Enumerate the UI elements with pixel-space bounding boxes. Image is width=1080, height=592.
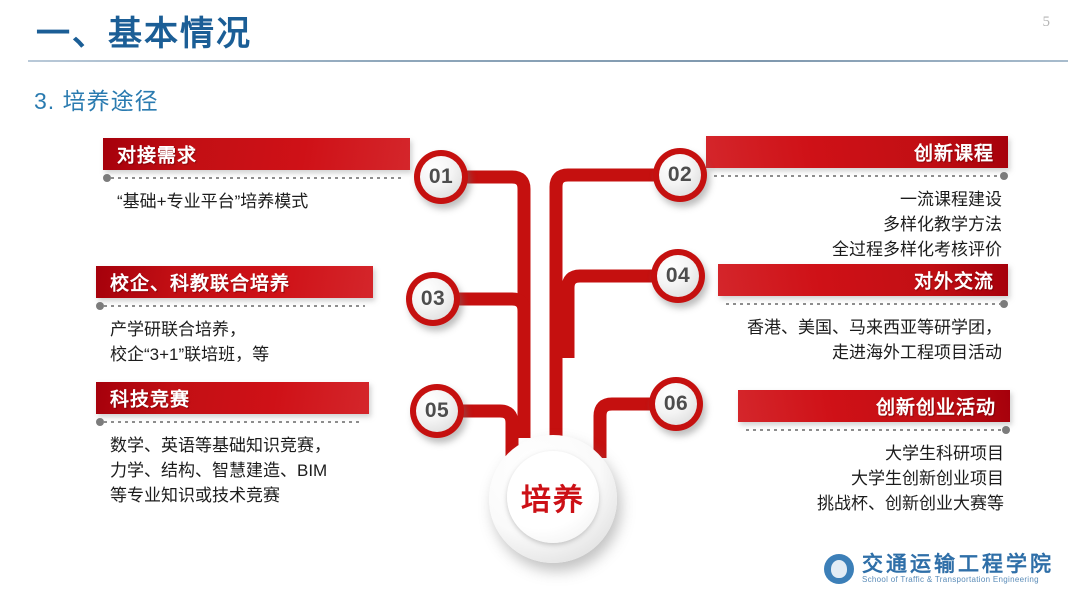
marker-number-03: 03 <box>421 287 445 311</box>
pathway-marker-02[interactable]: 02 <box>653 148 707 202</box>
hub-label: 培养 <box>521 475 585 519</box>
marker-inner-04: 04 <box>657 255 699 297</box>
pathway-body-05: 数学、英语等基础知识竞赛， 力学、结构、智慧建造、BIM 等专业知识或技术竞赛 <box>96 433 369 508</box>
pathway-body-01: “基础+专业平台”培养模式 <box>103 189 410 214</box>
marker-number-04: 04 <box>666 264 690 288</box>
marker-inner-01: 01 <box>420 156 462 198</box>
dotted-line-icon <box>726 303 1000 305</box>
school-emblem-icon <box>824 554 854 584</box>
diagram-center-hub[interactable]: 培养 <box>489 435 617 563</box>
pathway-item-06[interactable]: 创新创业活动 大学生科研项目 大学生创新创业项目 挑战杯、创新创业大赛等 <box>738 390 1010 516</box>
marker-number-01: 01 <box>429 165 453 189</box>
pathway-dotline-03 <box>96 301 373 311</box>
dotted-line-icon <box>104 305 365 307</box>
title-divider <box>28 60 1068 62</box>
pathway-marker-06[interactable]: 06 <box>649 377 703 431</box>
footer-logo: 交通运输工程学院 School of Traffic & Transportat… <box>824 554 1054 584</box>
pathway-marker-01[interactable]: 01 <box>414 150 468 204</box>
pathway-item-03[interactable]: 校企、科教联合培养 产学研联合培养， 校企“3+1”联培班，等 <box>96 266 373 367</box>
school-name-en: School of Traffic & Transportation Engin… <box>862 576 1054 584</box>
marker-inner-06: 06 <box>655 383 697 425</box>
pathway-dotline-05 <box>96 417 369 427</box>
school-name-cn: 交通运输工程学院 <box>862 554 1054 576</box>
pathway-title-bar-05: 科技竞赛 <box>96 382 369 414</box>
dotted-line-icon <box>111 177 402 179</box>
pathway-body-06: 大学生科研项目 大学生创新创业项目 挑战杯、创新创业大赛等 <box>738 441 1010 516</box>
endpoint-dot-icon <box>1002 426 1010 434</box>
pathway-body-03: 产学研联合培养， 校企“3+1”联培班，等 <box>96 317 373 367</box>
pathway-item-04[interactable]: 对外交流 香港、美国、马来西亚等研学团， 走进海外工程项目活动 <box>718 264 1008 365</box>
footer-logo-text: 交通运输工程学院 School of Traffic & Transportat… <box>862 554 1054 584</box>
pathway-title-02: 创新课程 <box>914 139 994 166</box>
pathway-title-bar-04: 对外交流 <box>718 264 1008 296</box>
marker-number-05: 05 <box>425 399 449 423</box>
endpoint-dot-icon <box>1000 172 1008 180</box>
pathway-dotline-02 <box>706 171 1008 181</box>
pathway-title-bar-02: 创新课程 <box>706 136 1008 168</box>
marker-number-02: 02 <box>668 163 692 187</box>
marker-number-06: 06 <box>664 392 688 416</box>
dotted-line-icon <box>714 175 1000 177</box>
endpoint-dot-icon <box>96 418 104 426</box>
endpoint-dot-icon <box>103 174 111 182</box>
page-number: 5 <box>1043 14 1051 31</box>
dotted-line-icon <box>746 429 1002 431</box>
pathway-body-04: 香港、美国、马来西亚等研学团， 走进海外工程项目活动 <box>718 315 1008 365</box>
pathway-title-05: 科技竞赛 <box>110 385 190 412</box>
pathway-body-02: 一流课程建设 多样化教学方法 全过程多样化考核评价 <box>706 187 1008 262</box>
marker-inner-05: 05 <box>416 390 458 432</box>
pathway-item-02[interactable]: 创新课程 一流课程建设 多样化教学方法 全过程多样化考核评价 <box>706 136 1008 262</box>
pathway-title-bar-01: 对接需求 <box>103 138 410 170</box>
pathway-title-01: 对接需求 <box>117 141 197 168</box>
dotted-line-icon <box>104 421 361 423</box>
pathway-title-06: 创新创业活动 <box>876 393 996 420</box>
pathway-marker-04[interactable]: 04 <box>651 249 705 303</box>
endpoint-dot-icon <box>96 302 104 310</box>
pathway-dotline-06 <box>738 425 1010 435</box>
pathway-title-bar-03: 校企、科教联合培养 <box>96 266 373 298</box>
marker-inner-02: 02 <box>659 154 701 196</box>
pathway-marker-05[interactable]: 05 <box>410 384 464 438</box>
training-pathways-diagram: 对接需求 “基础+专业平台”培养模式 校企、科教联合培养 产学研联合培养， 校企… <box>0 118 1080 592</box>
pathway-dotline-04 <box>718 299 1008 309</box>
pathway-item-01[interactable]: 对接需求 “基础+专业平台”培养模式 <box>103 138 410 214</box>
pathway-item-05[interactable]: 科技竞赛 数学、英语等基础知识竞赛， 力学、结构、智慧建造、BIM 等专业知识或… <box>96 382 369 508</box>
pathway-title-03: 校企、科教联合培养 <box>110 269 290 296</box>
hub-inner-circle: 培养 <box>507 451 599 543</box>
endpoint-dot-icon <box>1000 300 1008 308</box>
pathway-dotline-01 <box>103 173 410 183</box>
pathway-marker-03[interactable]: 03 <box>406 272 460 326</box>
pathway-title-04: 对外交流 <box>914 267 994 294</box>
page-title: 一、基本情况 <box>36 6 252 55</box>
pathway-title-bar-06: 创新创业活动 <box>738 390 1010 422</box>
section-subtitle: 3. 培养途径 <box>34 82 159 116</box>
marker-inner-03: 03 <box>412 278 454 320</box>
